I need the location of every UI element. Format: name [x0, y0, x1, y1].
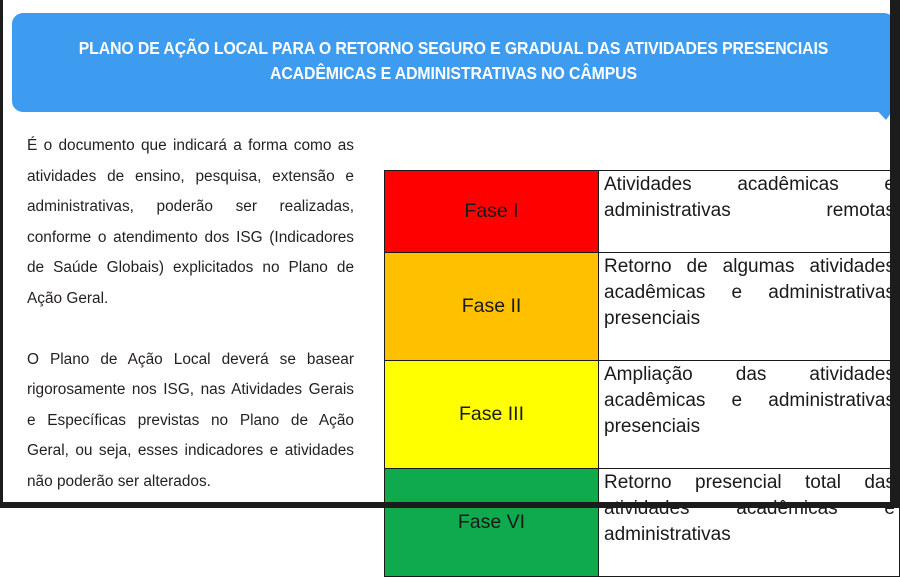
- phase-table: Fase I Atividades acadêmicas e administr…: [384, 170, 900, 577]
- phase-label-cell-4: Fase VI: [385, 469, 599, 577]
- phase-description: Atividades acadêmicas e administrativas …: [604, 172, 895, 250]
- phase-label-cell-1: Fase I: [385, 171, 599, 253]
- slide-bottom-edge: [0, 502, 900, 508]
- phase-label: Fase VI: [458, 511, 525, 533]
- table-row: Fase VI Retorno presencial total das ati…: [385, 469, 900, 577]
- phase-label: Fase III: [459, 403, 524, 425]
- phase-label: Fase I: [464, 200, 518, 222]
- phase-description-cell-2: Retorno de algumas atividades acadêmicas…: [599, 253, 900, 361]
- phase-label-cell-3: Fase III: [385, 361, 599, 469]
- paragraph-1: É o documento que indicará a forma como …: [27, 131, 354, 315]
- table-row: Fase II Retorno de algumas atividades ac…: [385, 253, 900, 361]
- slide-right-edge: [890, 0, 900, 508]
- slide-canvas: PLANO DE AÇÃO LOCAL PARA O RETORNO SEGUR…: [0, 0, 900, 508]
- description-text-block: É o documento que indicará a forma como …: [27, 131, 354, 498]
- table-row: Fase III Ampliação das atividades acadêm…: [385, 361, 900, 469]
- paragraph-2: O Plano de Ação Local deverá se basear r…: [27, 345, 354, 498]
- phase-table-body: Fase I Atividades acadêmicas e administr…: [385, 171, 900, 577]
- phase-label-cell-2: Fase II: [385, 253, 599, 361]
- slide-left-edge: [0, 0, 3, 508]
- phase-description-cell-1: Atividades acadêmicas e administrativas …: [599, 171, 900, 253]
- phase-description: Retorno presencial total das atividades …: [604, 470, 895, 574]
- phase-description-cell-3: Ampliação das atividades acadêmicas e ad…: [599, 361, 900, 469]
- table-row: Fase I Atividades acadêmicas e administr…: [385, 171, 900, 253]
- title-banner: PLANO DE AÇÃO LOCAL PARA O RETORNO SEGUR…: [12, 13, 895, 112]
- phase-description: Ampliação das atividades acadêmicas e ad…: [604, 362, 895, 466]
- phase-label: Fase II: [462, 295, 522, 317]
- phase-description: Retorno de algumas atividades acadêmicas…: [604, 254, 895, 358]
- page-title: PLANO DE AÇÃO LOCAL PARA O RETORNO SEGUR…: [75, 36, 832, 86]
- phase-description-cell-4: Retorno presencial total das atividades …: [599, 469, 900, 577]
